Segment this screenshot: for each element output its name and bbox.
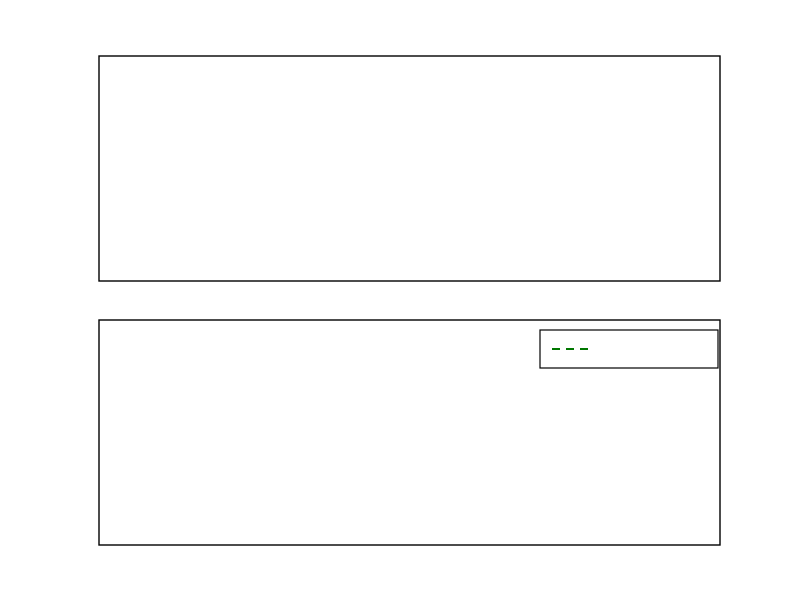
figure-background (0, 0, 800, 600)
matplotlib-figure (0, 0, 800, 600)
legend[interactable] (540, 330, 718, 368)
figure-canvas (0, 0, 800, 600)
